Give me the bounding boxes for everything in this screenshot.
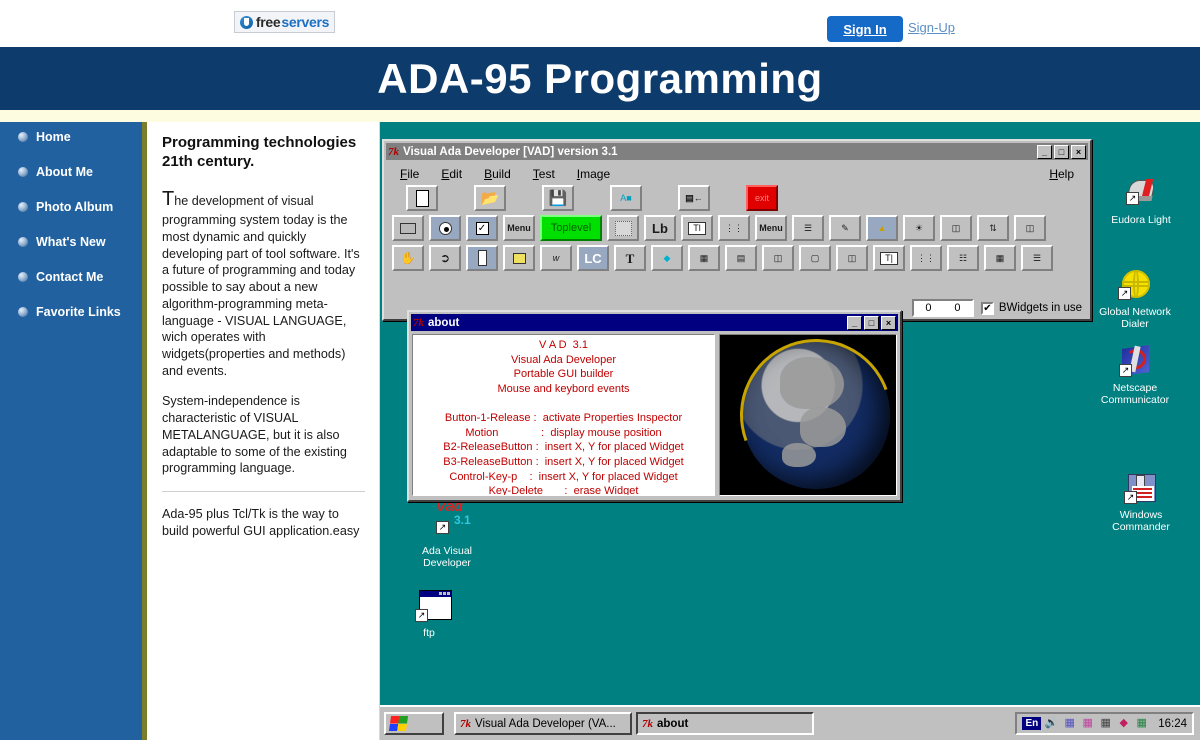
grid-layout-icon[interactable]: ▤: [725, 245, 757, 271]
desktop-icon-label: Windows Commander: [1098, 509, 1184, 533]
treeview-widget-icon[interactable]: ☷: [947, 245, 979, 271]
lc-combobox-icon[interactable]: LC: [577, 245, 609, 271]
globe-landmass: [800, 407, 846, 447]
desktop-icon-netscape-communicator[interactable]: ↗ Netscape Communicator: [1092, 345, 1178, 406]
about-line-spacer: [413, 397, 714, 412]
header-accent-band: [0, 110, 1200, 122]
progressbar-widget-icon[interactable]: ◫: [762, 245, 794, 271]
about-maximize-button[interactable]: □: [864, 316, 879, 330]
sign-up-link[interactable]: Sign-Up: [908, 20, 955, 35]
ftp-window-icon: ↗: [412, 590, 446, 624]
vad-toolbar-row-2: ✓ Menu Toplevel Lb Tl ⋮⋮ Menu ☰ ✎ ▲ ☀ ◫ …: [384, 215, 1090, 241]
new-document-icon[interactable]: [406, 185, 438, 211]
floppy-commander-icon: ↗: [1124, 472, 1158, 506]
shortcut-arrow-icon: ↗: [415, 609, 428, 622]
bullet-icon: [18, 202, 28, 212]
sidebar-item-favorite-links[interactable]: Favorite Links: [18, 305, 121, 319]
bwidgets-checkbox[interactable]: ✔: [981, 302, 994, 315]
text-align-icon[interactable]: ▤←: [678, 185, 710, 211]
listbox-widget-icon[interactable]: ⋮⋮: [718, 215, 750, 241]
menu-file[interactable]: File: [400, 167, 419, 181]
brush-widget-icon[interactable]: ▲: [866, 215, 898, 241]
about-line: Visual Ada Developer: [413, 353, 714, 368]
shortcut-arrow-icon: ↗: [1118, 287, 1131, 300]
bwidgets-checkbox-group[interactable]: ✔ BWidgets in use: [981, 302, 1082, 315]
desktop-icon-windows-commander[interactable]: ↗ Windows Commander: [1098, 472, 1184, 533]
article-column: Programming technologies 21th century. T…: [152, 122, 380, 740]
desktop-icon-global-network-dialer[interactable]: ↗ Global Network Dialer: [1092, 269, 1178, 330]
sidebar-item-label: Photo Album: [36, 200, 113, 214]
vad-menu-bar: File Edit Build Test Image Help: [384, 160, 1090, 185]
about-line: Control-Key-p : insert X, Y for placed W…: [413, 470, 714, 485]
bullet-icon: [18, 272, 28, 282]
article-paragraph-1: The development of visual programming sy…: [162, 186, 365, 380]
taskbar-item-label: about: [657, 718, 688, 730]
menu-test[interactable]: Test: [533, 167, 555, 181]
menubutton-widget-icon[interactable]: Menu: [755, 215, 787, 241]
vad-toolbar-row-1: 📂 💾 A■ ▤← exit: [384, 185, 1090, 211]
about-line: B2-ReleaseButton : insert X, Y for place…: [413, 440, 714, 455]
radiobutton-widget-icon[interactable]: [429, 215, 461, 241]
about-text-panel: V A D 3.1 Visual Ada Developer Portable …: [412, 334, 715, 496]
sidebar-item-label: Favorite Links: [36, 305, 121, 319]
sidebar-item-label: About Me: [36, 165, 93, 179]
tray-app-icon-3[interactable]: ▦: [1098, 716, 1113, 731]
mailbox-icon: ↗: [1124, 177, 1158, 211]
logo-text-free: free: [256, 14, 280, 30]
vad-close-button[interactable]: ×: [1071, 145, 1086, 159]
dotgrid-widget-icon[interactable]: ⋮⋮: [910, 245, 942, 271]
sidebar-item-about-me[interactable]: About Me: [18, 165, 93, 179]
panedwindow-widget-icon[interactable]: ⇅: [977, 215, 1009, 241]
about-line: Motion : display mouse position: [413, 426, 714, 441]
sidebar-item-home[interactable]: Home: [18, 130, 71, 144]
globe-landmass: [782, 443, 816, 467]
globe-landmass: [780, 357, 844, 409]
scale-widget-icon[interactable]: [466, 245, 498, 271]
label-widget-icon[interactable]: Lb: [644, 215, 676, 241]
canvas-widget-icon[interactable]: [607, 215, 639, 241]
textline-widget-icon[interactable]: Tl: [681, 215, 713, 241]
dialog-widget-icon[interactable]: ▢: [799, 245, 831, 271]
sidebar-nav: Home About Me Photo Album What's New Con…: [0, 122, 147, 740]
vad-main-window[interactable]: 7k Visual Ada Developer [VAD] version 3.…: [382, 139, 1092, 321]
page-header: ADA-95 Programming: [0, 47, 1200, 110]
open-folder-icon[interactable]: 📂: [474, 185, 506, 211]
frame-widget-icon[interactable]: [392, 215, 424, 241]
menu-widget-icon[interactable]: Menu: [503, 215, 535, 241]
script-widget-icon[interactable]: w: [540, 245, 572, 271]
color-picker-icon[interactable]: ◆: [651, 245, 683, 271]
menu-image[interactable]: Image: [577, 167, 610, 181]
netscape-icon: ↗: [1118, 345, 1152, 379]
taskbar-item-about[interactable]: 7k about: [636, 712, 814, 735]
about-line: B3-ReleaseButton : insert X, Y for place…: [413, 455, 714, 470]
sidebar-item-label: Contact Me: [36, 270, 103, 284]
page-title: ADA-95 Programming: [377, 55, 822, 103]
about-line: Key-Delete : erase Widget: [413, 484, 714, 496]
vad-icon-version: 3.1: [454, 513, 471, 527]
notebook-widget-icon[interactable]: ◫: [940, 215, 972, 241]
language-indicator[interactable]: En: [1022, 717, 1041, 730]
dnd-widget-icon[interactable]: ▦: [984, 245, 1016, 271]
windows-taskbar: 7k Visual Ada Developer (VA... 7k about …: [380, 705, 1200, 740]
article-paragraph-2: System-independence is characteristic of…: [162, 393, 365, 477]
bullet-icon: [18, 307, 28, 317]
image-properties-icon[interactable]: A■: [610, 185, 642, 211]
about-app-icon: 7k: [413, 317, 424, 329]
table-layout-icon[interactable]: ▦: [688, 245, 720, 271]
entry-widget-icon[interactable]: T|: [873, 245, 905, 271]
about-line: Button-1-Release : activate Properties I…: [413, 411, 714, 426]
about-window-title: about: [428, 317, 847, 329]
top-bar: freeservers Sign In Sign-Up: [0, 0, 1200, 47]
sign-in-button[interactable]: Sign In: [827, 16, 903, 42]
globe-network-icon: ↗: [1118, 269, 1152, 303]
about-body: V A D 3.1 Visual Ada Developer Portable …: [409, 331, 900, 499]
shortcut-arrow-icon: ↗: [1126, 192, 1139, 205]
bwidgets-checkbox-label: BWidgets in use: [999, 302, 1082, 314]
image-widget-icon[interactable]: ☀: [903, 215, 935, 241]
menu-edit[interactable]: Edit: [441, 167, 462, 181]
freeservers-logo[interactable]: freeservers: [234, 11, 335, 33]
desktop-icon-label: Global Network Dialer: [1092, 306, 1178, 330]
coord-y-value: 0: [954, 302, 960, 314]
taskbar-clock[interactable]: 16:24: [1158, 718, 1187, 730]
tray-app-icon-1[interactable]: ▦: [1062, 716, 1077, 731]
desktop-icon-eudora-light[interactable]: ↗ Eudora Light: [1098, 177, 1184, 226]
tray-app-icon-4[interactable]: ◆: [1116, 716, 1131, 731]
shortcut-arrow-icon: ↗: [436, 521, 449, 534]
about-title-bar[interactable]: 7k about _ □ ×: [411, 314, 898, 331]
list-detail-icon[interactable]: ☰: [1021, 245, 1053, 271]
bullet-icon: [18, 167, 28, 177]
shortcut-arrow-icon: ↗: [1124, 491, 1137, 504]
system-tray: En 🔊 ▦ ▦ ▦ ◆ ▦ 16:24: [1015, 712, 1194, 735]
sidebar-item-label: What's New: [36, 235, 106, 249]
bullet-icon: [18, 237, 28, 247]
logo-text-servers: servers: [281, 14, 329, 30]
article-paragraph-3: Ada-95 plus Tcl/Tk is the way to build p…: [162, 506, 365, 539]
desktop-icon-label: Ada Visual Developer: [404, 545, 490, 569]
toplevel-button[interactable]: Toplevel: [540, 215, 602, 241]
taskbar-item-vad[interactable]: 7k Visual Ada Developer (VA...: [454, 712, 632, 735]
pointer-tool-icon[interactable]: ➲: [429, 245, 461, 271]
windows-flag-icon: [389, 716, 408, 731]
menu-build[interactable]: Build: [484, 167, 511, 181]
vad-icon: Vad 3.1 ↗: [430, 500, 464, 542]
tray-app-icon-2[interactable]: ▦: [1080, 716, 1095, 731]
duplicate-widget-icon[interactable]: [503, 245, 535, 271]
coord-x-value: 0: [925, 302, 931, 314]
checkbutton-widget-icon[interactable]: ✓: [466, 215, 498, 241]
sidebar-item-label: Home: [36, 130, 71, 144]
vad-maximize-button[interactable]: □: [1054, 145, 1069, 159]
volume-icon[interactable]: 🔊: [1044, 716, 1059, 731]
desktop-icon-vad[interactable]: Vad 3.1 ↗ Ada Visual Developer: [404, 500, 490, 569]
paint-widget-icon[interactable]: ✎: [829, 215, 861, 241]
about-globe-image: [719, 334, 897, 496]
desktop-icon-ftp[interactable]: ↗ ftp: [386, 590, 472, 639]
start-button[interactable]: [384, 712, 444, 735]
desktop-icon-label: Eudora Light: [1098, 214, 1184, 226]
sidebar-item-photo-album[interactable]: Photo Album: [18, 200, 113, 214]
menu-help[interactable]: Help: [1049, 167, 1074, 181]
exit-button[interactable]: exit: [746, 185, 778, 211]
about-line: V A D 3.1: [413, 338, 714, 353]
hand-tool-icon[interactable]: ✋: [392, 245, 424, 271]
bullet-icon: [18, 132, 28, 142]
tray-app-icon-5[interactable]: ▦: [1134, 716, 1149, 731]
messagebox-widget-icon[interactable]: ◫: [836, 245, 868, 271]
text-tool-icon[interactable]: T: [614, 245, 646, 271]
sidebar-item-contact-me[interactable]: Contact Me: [18, 270, 103, 284]
about-line: Portable GUI builder: [413, 367, 714, 382]
about-minimize-button[interactable]: _: [847, 316, 862, 330]
vad-taskbar-icon: 7k: [460, 718, 471, 730]
desktop-icon-label: Netscape Communicator: [1092, 382, 1178, 406]
vad-minimize-button[interactable]: _: [1037, 145, 1052, 159]
save-floppy-icon[interactable]: 💾: [542, 185, 574, 211]
sidebar-item-whats-new[interactable]: What's New: [18, 235, 106, 249]
shortcut-arrow-icon: ↗: [1119, 364, 1132, 377]
content-divider: [162, 491, 365, 492]
article-heading: Programming technologies 21th century.: [162, 134, 365, 172]
vad-toolbar-row-3: ✋ ➲ w LC T ◆ ▦ ▤ ◫ ▢ ◫ T| ⋮⋮ ☷ ▦ ☰: [384, 245, 1090, 271]
taskbar-item-label: Visual Ada Developer (VA...: [475, 718, 616, 730]
text-widget-icon[interactable]: ☰: [792, 215, 824, 241]
freeservers-mark-icon: [240, 16, 253, 29]
about-line: Mouse and keybord events: [413, 382, 714, 397]
about-close-button[interactable]: ×: [881, 316, 896, 330]
vad-app-icon: 7k: [388, 146, 399, 158]
about-taskbar-icon: 7k: [642, 718, 653, 730]
splitter-widget-icon[interactable]: ◫: [1014, 215, 1046, 241]
coordinate-display[interactable]: 0 0: [912, 299, 974, 317]
about-dialog[interactable]: 7k about _ □ × V A D 3.1 Visual Ada Deve…: [407, 310, 902, 502]
desktop-icon-label: ftp: [386, 627, 472, 639]
vad-title-bar[interactable]: 7k Visual Ada Developer [VAD] version 3.…: [386, 143, 1088, 160]
vad-window-title: Visual Ada Developer [VAD] version 3.1: [403, 146, 1037, 158]
